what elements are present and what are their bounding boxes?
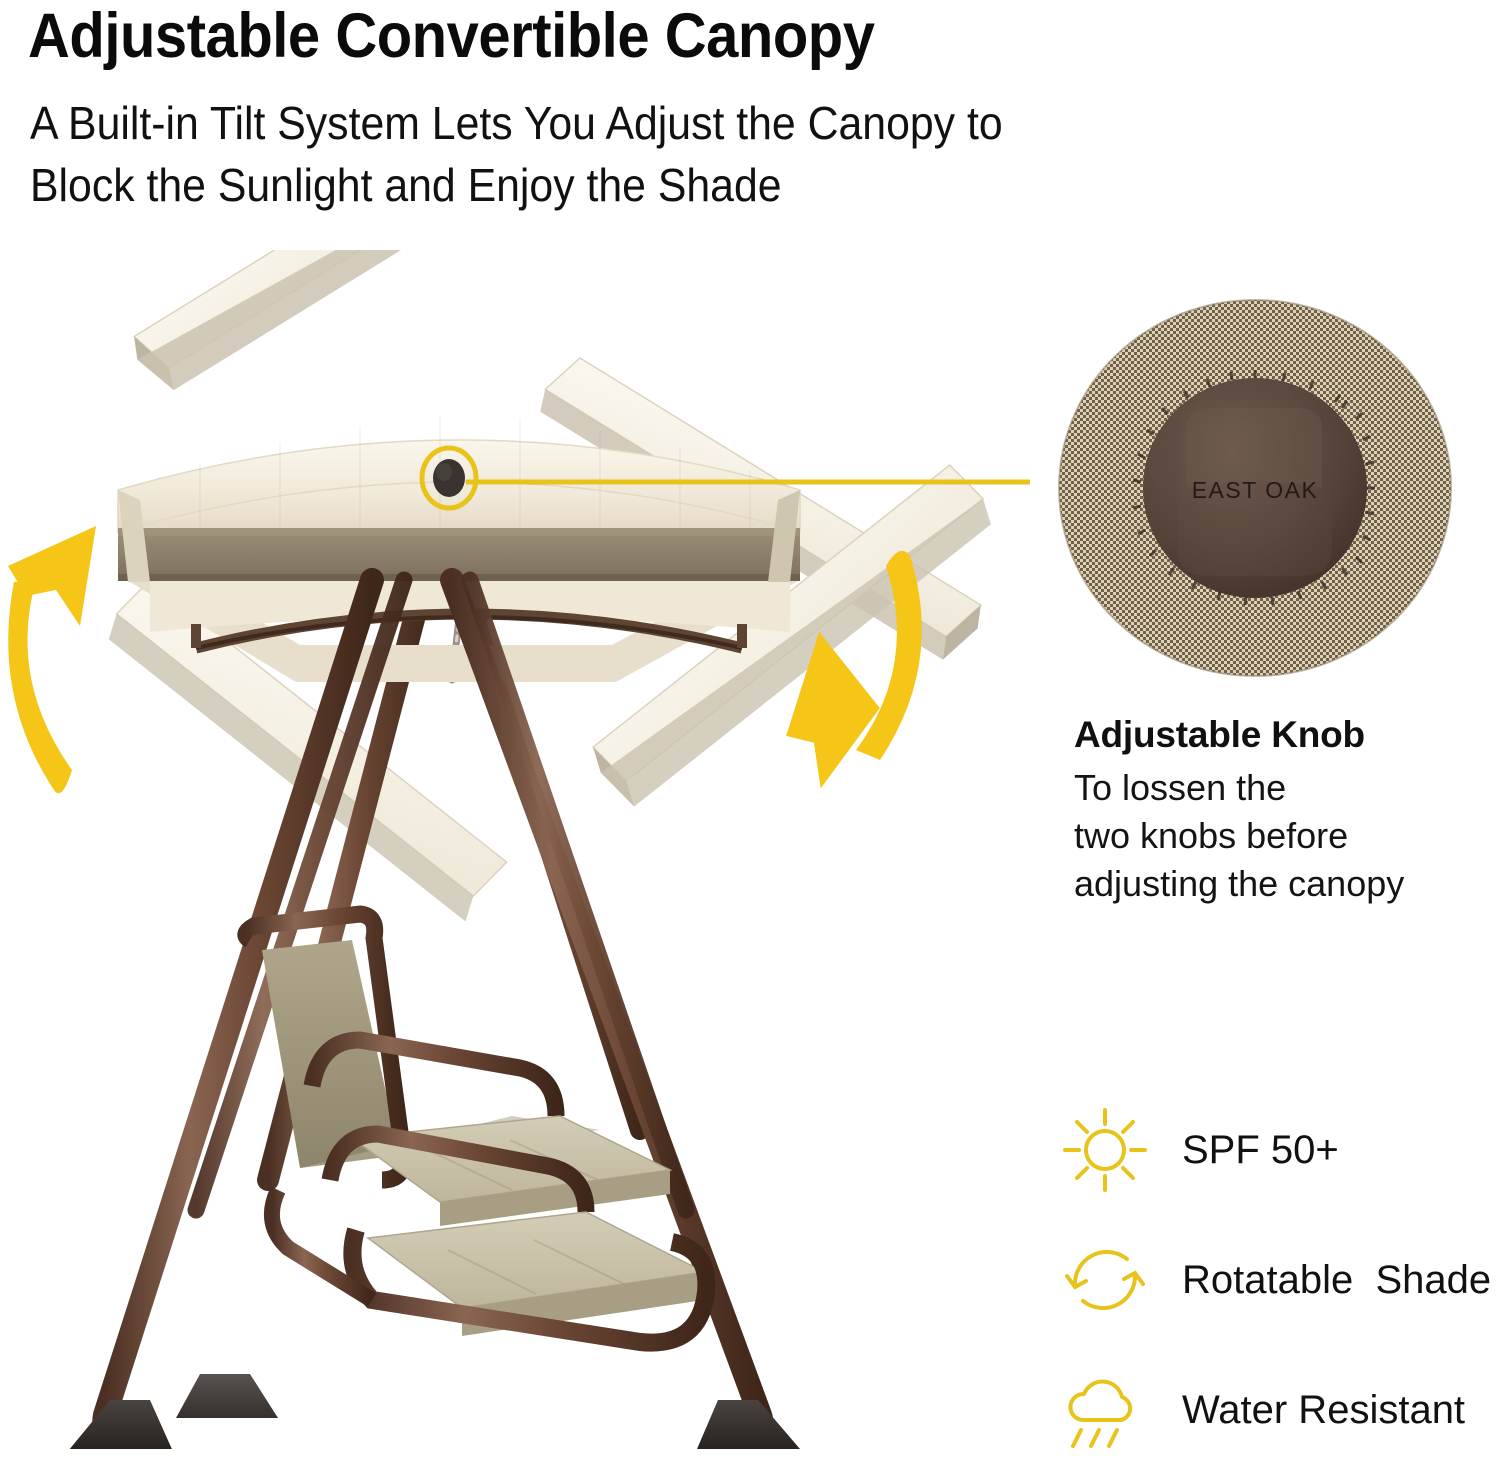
feature-label-water: Water Resistant [1182,1388,1465,1433]
feature-label-rotatable: Rotatable Shade [1182,1258,1491,1303]
page-subtitle: A Built-in Tilt System Lets You Adjust t… [30,92,1360,216]
feature-list: SPF 50+ Rotatable Shade Water Resis [1050,1085,1490,1475]
feature-label-spf: SPF 50+ [1182,1128,1339,1173]
knob-brand-label: EAST OAK [1192,477,1319,503]
subtitle-line-2: Block the Sunlight and Enjoy the Shade [30,154,1360,216]
knob-text-block: Adjustable Knob To lossen the two knobs … [1074,712,1494,908]
feature-row-rotatable: Rotatable Shade [1050,1215,1490,1345]
rotate-icon [1050,1225,1160,1335]
knob-detail-callout: EAST OAK [1050,292,1470,692]
sun-icon [1050,1095,1160,1205]
page-title: Adjustable Convertible Canopy [28,2,1316,70]
product-infographic: Adjustable Convertible Canopy A Built-in… [0,0,1500,1449]
feature-row-spf: SPF 50+ [1050,1085,1490,1215]
knob-body-line-1: To lossen the [1074,764,1494,812]
knob-body-line-3: adjusting the canopy [1074,860,1494,908]
knob-body-line-2: two knobs before [1074,812,1494,860]
knob-callout-body: To lossen the two knobs before adjusting… [1074,764,1494,908]
feature-row-water: Water Resistant [1050,1345,1490,1475]
subtitle-line-1: A Built-in Tilt System Lets You Adjust t… [30,92,1360,154]
product-illustration [0,250,1030,1449]
rotation-arrow-up [8,526,96,793]
knob-callout-title: Adjustable Knob [1074,712,1494,758]
